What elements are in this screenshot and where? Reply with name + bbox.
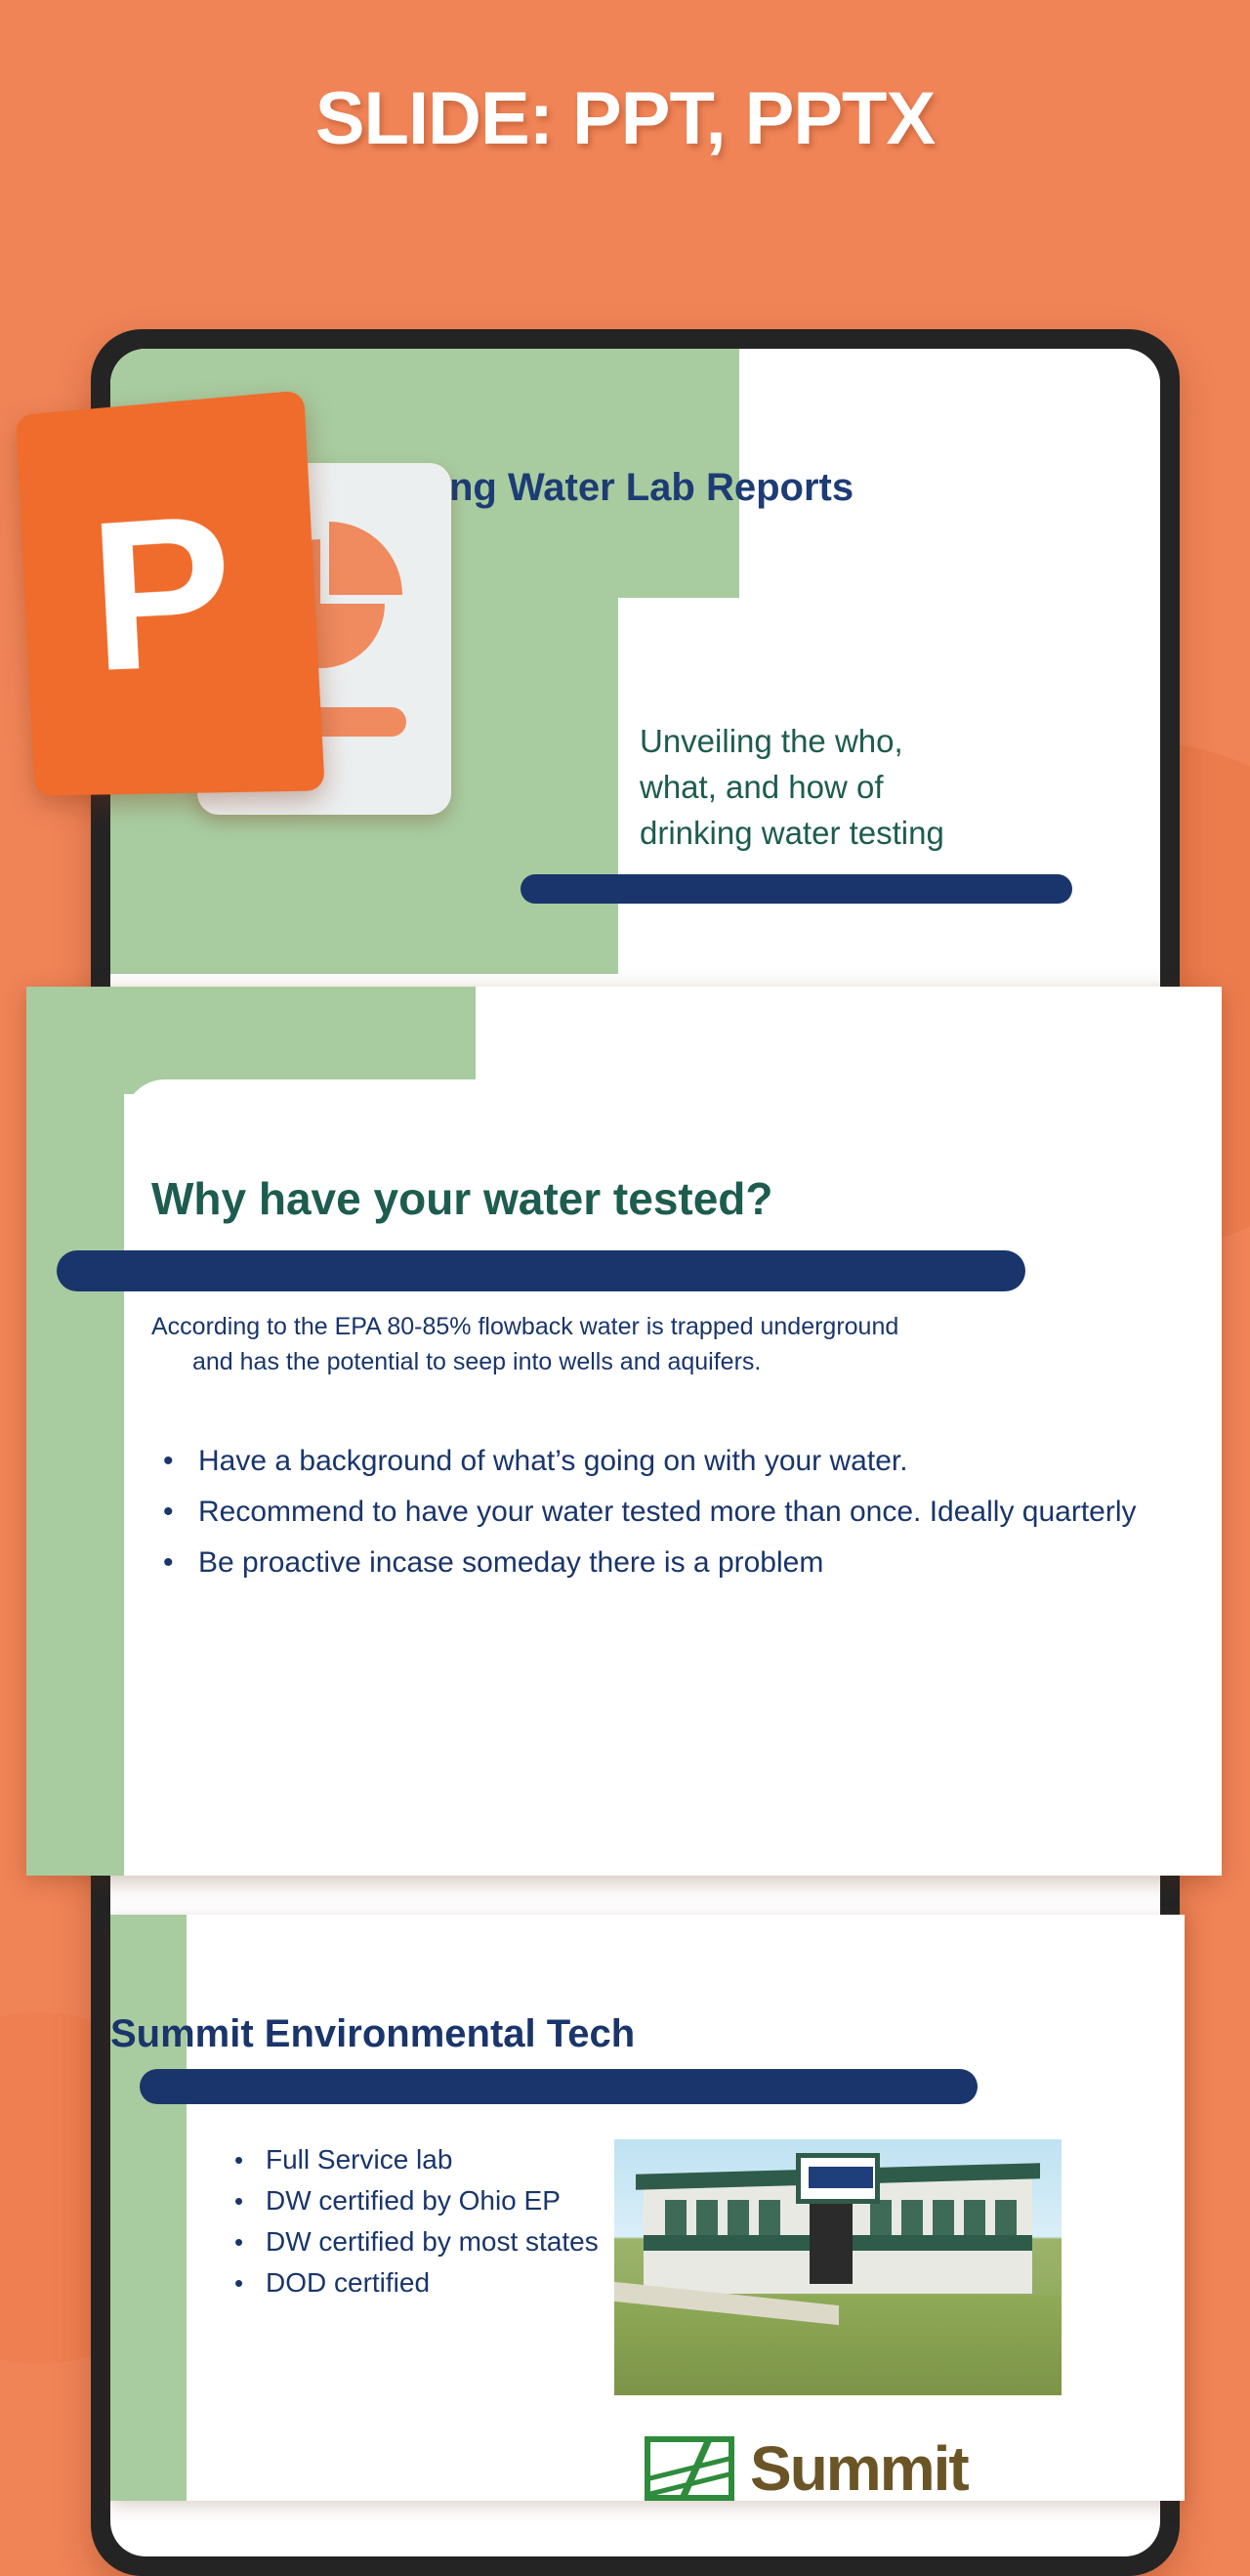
list-item: DOD certified <box>225 2262 615 2303</box>
powerpoint-panel: P <box>16 390 325 795</box>
building-entrance <box>810 2204 853 2284</box>
slide-2[interactable] <box>26 987 1222 1876</box>
slide-2-green-left <box>26 987 124 1876</box>
slide-3-green-left <box>110 1915 187 2501</box>
list-item: Full Service lab <box>225 2139 615 2180</box>
slide-2-lead-line-1: According to the EPA 80-85% flowback wat… <box>151 1313 898 1340</box>
slide-2-accent-bar <box>57 1250 1025 1291</box>
powerpoint-letter: P <box>86 481 238 702</box>
powerpoint-icon: P <box>20 402 488 813</box>
slide-3-bullet-list: Full Service lab DW certified by Ohio EP… <box>225 2139 615 2303</box>
building-window <box>995 2200 1017 2235</box>
slide-2-lead-paragraph: According to the EPA 80-85% flowback wat… <box>151 1309 1187 1379</box>
summit-building-photo <box>614 2139 1062 2395</box>
slide-1-title: ng Water Lab Reports <box>449 466 854 510</box>
building-window <box>870 2200 892 2235</box>
list-item: DW certified by most states <box>225 2221 615 2262</box>
building-window <box>665 2200 687 2235</box>
leaf-icon <box>645 2436 734 2501</box>
leaf-slash <box>670 2436 716 2501</box>
building-window <box>759 2200 780 2235</box>
slide-2-title: Why have your water tested? <box>151 1172 773 1225</box>
list-item: Recommend to have your water tested more… <box>151 1489 1187 1536</box>
slide-1-accent-bar <box>521 874 1072 904</box>
slide-2-green-top <box>26 987 476 1094</box>
summit-logo: Summit <box>645 2432 968 2505</box>
slide-1-subtitle-line-2: what, and how of <box>640 764 944 810</box>
list-item: Have a background of what’s going on wit… <box>151 1438 1187 1485</box>
slide-1-subtitle-line-3: drinking water testing <box>640 810 944 856</box>
building-sign-text <box>809 2167 873 2188</box>
slide-2-lead-line-2: and has the potential to seep into wells… <box>151 1344 1187 1379</box>
slide-1-subtitle-line-1: Unveiling the who, <box>640 718 944 764</box>
building-window <box>696 2200 718 2235</box>
slide-3-title: Summit Environmental Tech <box>110 2012 635 2056</box>
list-item: DW certified by Ohio EP <box>225 2180 615 2221</box>
slide-2-bullet-list: Have a background of what’s going on wit… <box>151 1438 1187 1590</box>
page-title: SLIDE: PPT, PPTX <box>0 76 1250 161</box>
summit-logo-text: Summit <box>750 2432 968 2505</box>
building-window <box>933 2200 954 2235</box>
building-window <box>964 2200 985 2235</box>
building-window <box>728 2200 749 2235</box>
building-window <box>901 2200 923 2235</box>
building-sign <box>796 2153 880 2204</box>
list-item: Be proactive incase someday there is a p… <box>151 1540 1187 1586</box>
slide-1-subtitle: Unveiling the who, what, and how of drin… <box>640 718 944 856</box>
slide-3-accent-bar <box>140 2069 978 2104</box>
